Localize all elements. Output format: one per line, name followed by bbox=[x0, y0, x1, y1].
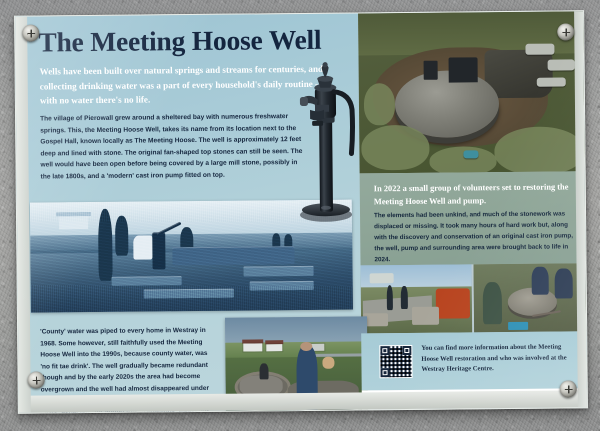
qr-caption-text: You can find more information about the … bbox=[421, 342, 579, 376]
aerial-grass-tuft-d bbox=[429, 147, 497, 174]
qr-pattern bbox=[380, 346, 411, 377]
photoman-held-object bbox=[322, 356, 335, 369]
mounting-bolt-top-left bbox=[22, 25, 39, 42]
aerial-pump-handle bbox=[424, 61, 438, 80]
restoration-photograph-volunteers bbox=[361, 264, 473, 333]
interpretation-sign-board: The Meeting Hoose Well Wells have been b… bbox=[14, 10, 588, 413]
rest1-digger-machine bbox=[436, 289, 470, 319]
mounting-bolt-top-right bbox=[557, 23, 574, 40]
qr-finder-bottom-left bbox=[381, 368, 390, 377]
sign-face: The Meeting Hoose Well Wells have been b… bbox=[15, 11, 587, 412]
qr-finder-top-right bbox=[402, 346, 411, 355]
aerial-blue-object bbox=[463, 150, 479, 158]
rest2-person-bending-a bbox=[532, 266, 549, 295]
qr-code[interactable] bbox=[379, 345, 412, 378]
main-body-paragraph: The village of Pierowall grew around a s… bbox=[40, 111, 307, 183]
aerial-restored-well-photograph bbox=[358, 11, 585, 173]
aerial-pump bbox=[449, 57, 478, 83]
qr-information-strip: You can find more information about the … bbox=[361, 331, 587, 390]
rest2-person-bending-b bbox=[554, 269, 572, 299]
qr-finder-top-left bbox=[380, 346, 389, 355]
photoman-person-head bbox=[300, 342, 311, 351]
rest1-person-b bbox=[401, 286, 408, 309]
aerial-grass-tuft-c bbox=[494, 126, 584, 173]
mounting-bolt-bottom-right bbox=[560, 380, 577, 397]
restoration-heading: In 2022 a small group of volunteers set … bbox=[374, 180, 574, 208]
rest1-person-a bbox=[386, 286, 393, 311]
rest1-stone-slab-a bbox=[412, 307, 439, 325]
restoration-green-panel: In 2022 a small group of volunteers set … bbox=[360, 171, 586, 265]
aerial-grass-tuft-b bbox=[361, 125, 429, 170]
aerial-flagstone-a bbox=[525, 44, 554, 55]
aerial-flagstone-c bbox=[536, 77, 565, 87]
rest2-tool-case bbox=[508, 322, 528, 330]
photoman-house-b bbox=[266, 344, 282, 351]
page-title: The Meeting Hoose Well bbox=[38, 26, 338, 57]
photoman-house-a bbox=[244, 343, 263, 351]
aerial-grass-tuft-a bbox=[363, 83, 395, 125]
cast-iron-pump-illustration bbox=[288, 57, 364, 226]
rest2-person-foreground bbox=[483, 282, 502, 324]
photoman-pump-dark bbox=[260, 363, 269, 380]
rest1-building bbox=[369, 273, 393, 283]
aerial-flagstone-b bbox=[548, 59, 575, 70]
restoration-paragraph: The elements had been unkind, and much o… bbox=[374, 209, 574, 266]
restoration-photograph-excavation bbox=[474, 263, 587, 332]
mounting-bolt-bottom-left bbox=[28, 371, 45, 388]
